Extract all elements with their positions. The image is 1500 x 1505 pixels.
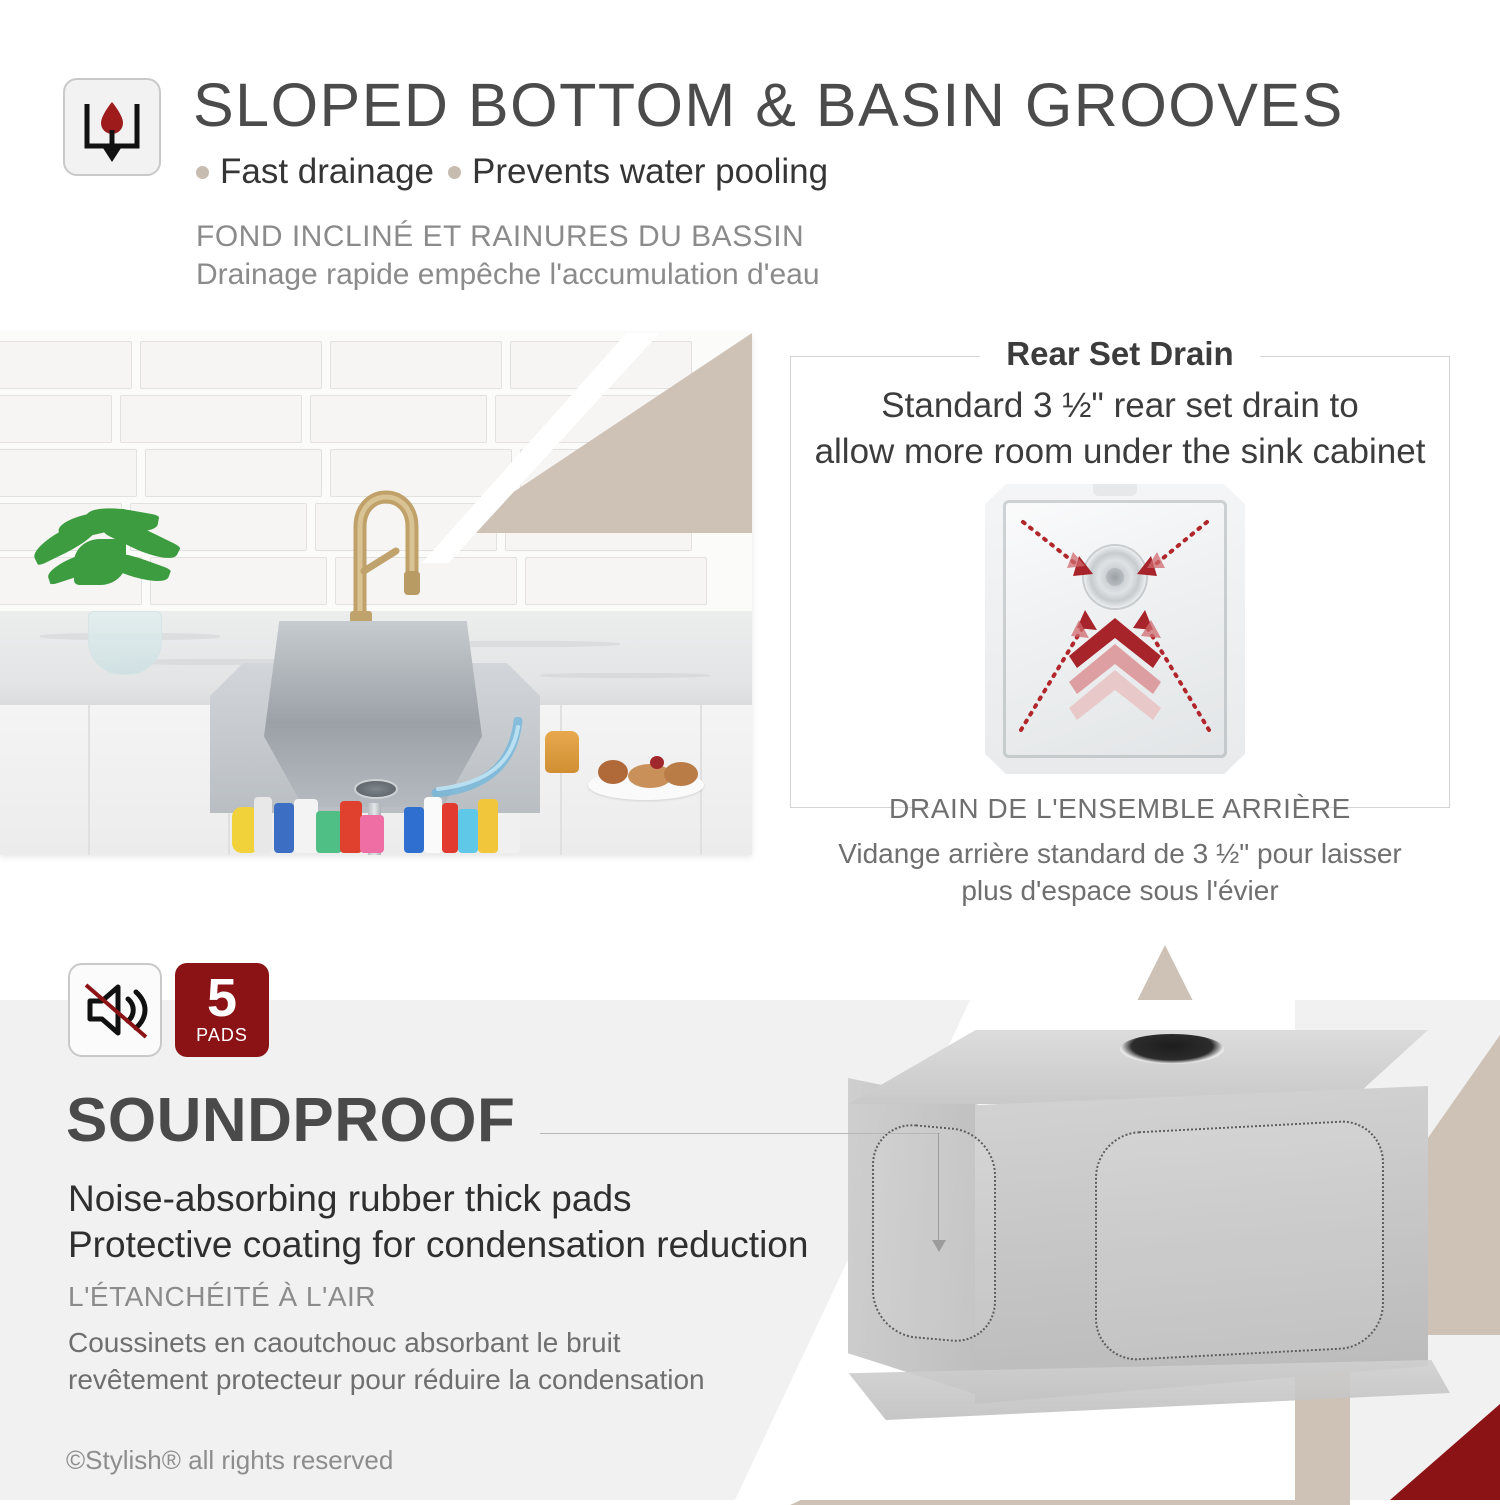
callout-line-horizontal bbox=[540, 1133, 940, 1134]
rear-drain-line-2: allow more room under the sink cabinet bbox=[778, 432, 1462, 472]
rubber-pad-front bbox=[1095, 1118, 1384, 1362]
pads-count-badge: 5 PADS bbox=[175, 963, 269, 1057]
bullet-dot-icon bbox=[196, 166, 209, 179]
callout-line-vertical bbox=[938, 1133, 939, 1248]
copyright-notice: ©Stylish® all rights reserved bbox=[66, 1445, 393, 1476]
rear-drain-line-1: Standard 3 ½" rear set drain to bbox=[790, 386, 1450, 426]
rear-drain-french-title: DRAIN DE L'ENSEMBLE ARRIÈRE bbox=[790, 793, 1450, 825]
header-bullet-2: Prevents water pooling bbox=[472, 152, 828, 192]
soundproof-french-line-2: revêtement protecteur pour réduire la co… bbox=[68, 1364, 705, 1396]
infographic-page: SLOPED BOTTOM & BASIN GROOVES Fast drain… bbox=[0, 0, 1500, 1500]
rubber-pad-side bbox=[872, 1121, 996, 1346]
soundproof-title: SOUNDPROOF bbox=[66, 1085, 515, 1156]
callout-arrow-icon bbox=[932, 1240, 946, 1252]
kitchen-sink-lifestyle-photo bbox=[0, 333, 752, 855]
soundproof-line-2: Protective coating for condensation redu… bbox=[68, 1224, 808, 1266]
plate-of-cookies bbox=[588, 770, 704, 800]
bullet-dot-icon bbox=[448, 166, 461, 179]
header-bullets: Fast drainage Prevents water pooling bbox=[196, 152, 828, 192]
rear-drain-title: Rear Set Drain bbox=[790, 335, 1450, 373]
under-sink-cleaning-supplies bbox=[228, 793, 528, 855]
header-bullet-1: Fast drainage bbox=[220, 152, 434, 192]
sink-underside-soundproof-pads-image bbox=[830, 1030, 1450, 1450]
header-french-subtitle: Drainage rapide empêche l'accumulation d… bbox=[196, 258, 820, 292]
sink-top-view-drain-flow-diagram bbox=[985, 484, 1245, 774]
muted-speaker-icon bbox=[68, 963, 162, 1057]
badge-label: PADS bbox=[196, 1025, 248, 1046]
rear-drain-french-line-1: Vidange arrière standard de 3 ½" pour la… bbox=[770, 838, 1470, 870]
soundproof-french-title: L'ÉTANCHÉITÉ À L'AIR bbox=[68, 1281, 376, 1313]
badge-number: 5 bbox=[207, 974, 237, 1024]
drain-hole bbox=[1120, 1034, 1224, 1064]
page-title: SLOPED BOTTOM & BASIN GROOVES bbox=[193, 70, 1344, 140]
soundproof-line-1: Noise-absorbing rubber thick pads bbox=[68, 1178, 632, 1220]
soundproof-french-line-1: Coussinets en caoutchouc absorbant le br… bbox=[68, 1327, 621, 1359]
rear-drain-french-line-2: plus d'espace sous l'évier bbox=[790, 875, 1450, 907]
honey-pot bbox=[545, 731, 579, 773]
header-french-title: FOND INCLINÉ ET RAINURES DU BASSIN bbox=[196, 220, 804, 254]
sloped-basin-drop-icon bbox=[63, 78, 161, 176]
